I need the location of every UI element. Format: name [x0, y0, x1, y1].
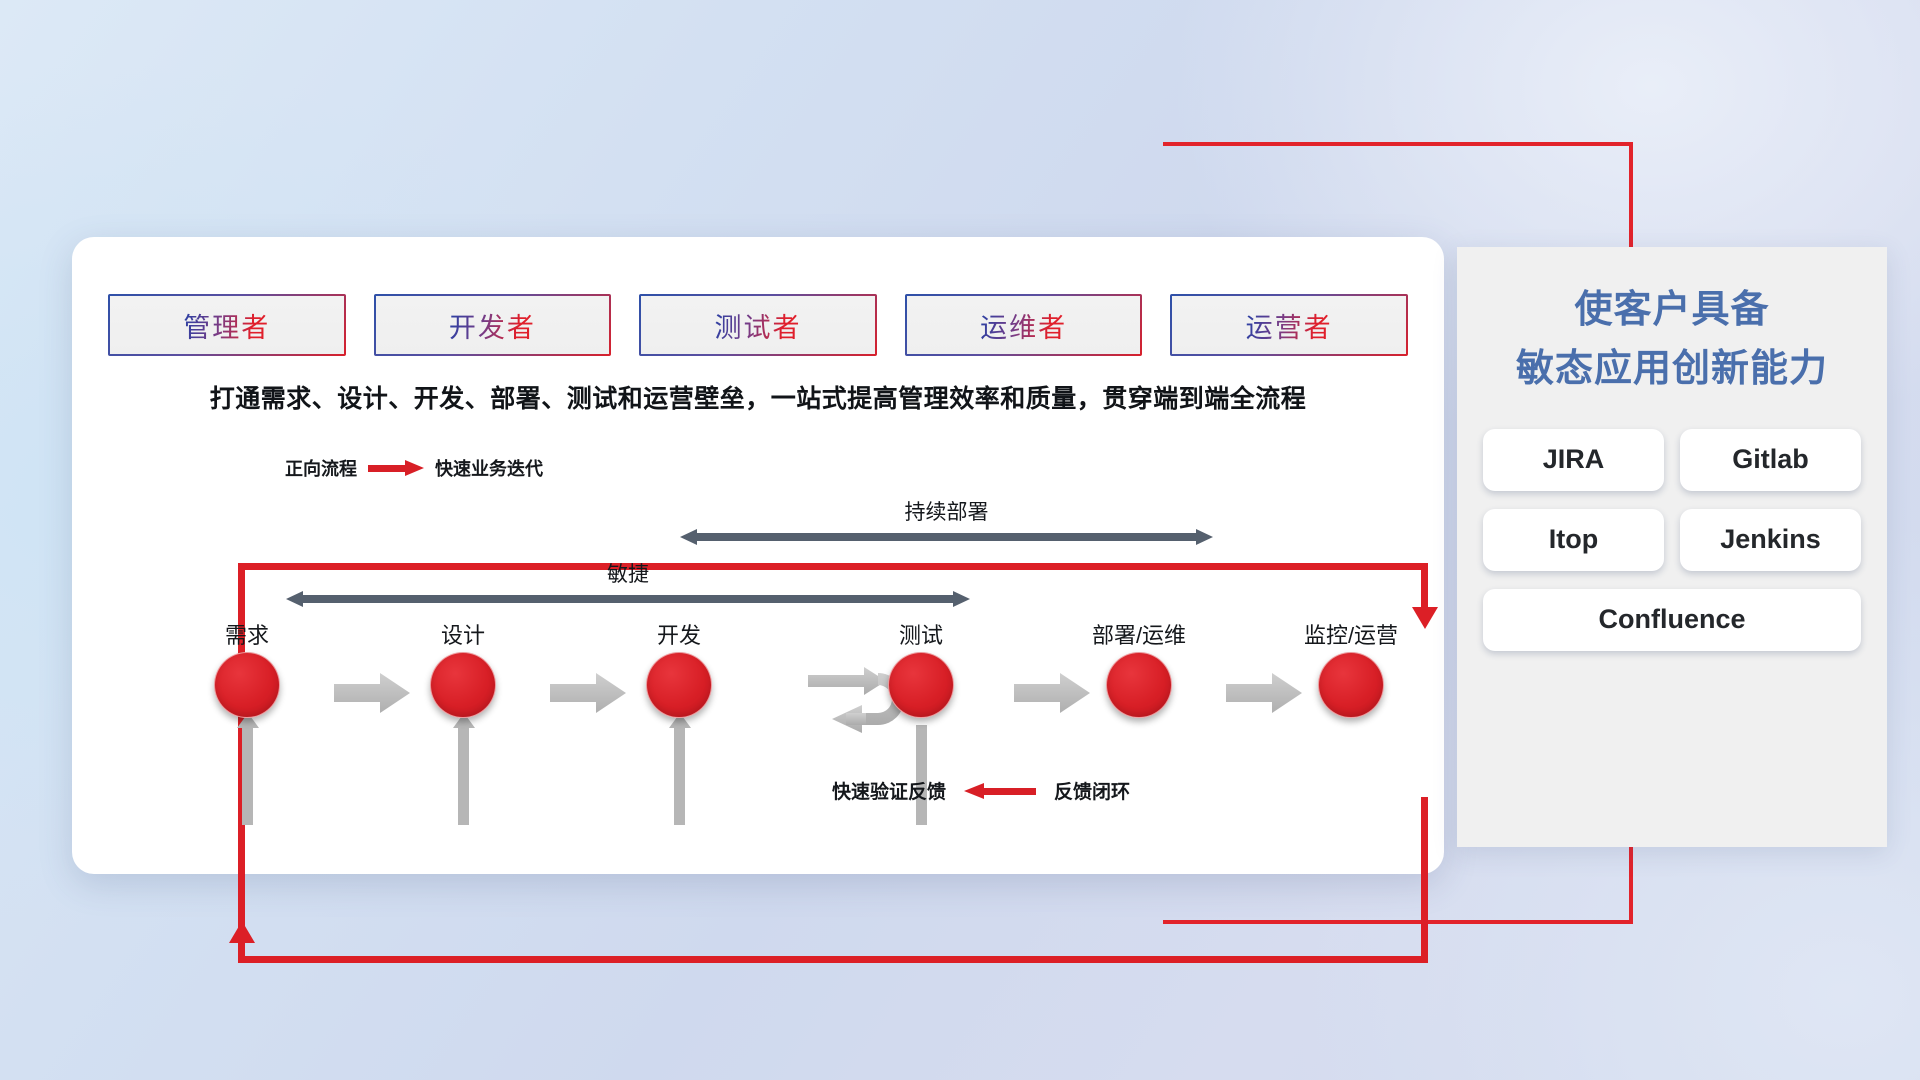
feed-line-develop — [674, 725, 685, 825]
legend-forward-right-label: 快速业务迭代 — [435, 455, 543, 481]
tagline-text: 打通需求、设计、开发、部署、测试和运营壁垒，一站式提高管理效率和质量，贯穿端到端… — [72, 379, 1444, 415]
legend-feedback-right-label: 反馈闭环 — [1054, 777, 1130, 804]
tool-chip-jenkins[interactable]: Jenkins — [1680, 509, 1861, 571]
arrow-left-icon — [964, 783, 1036, 799]
panel-title-line-1: 使客户具备 — [1483, 281, 1861, 340]
pipeline-stage-requirement[interactable]: 需求 — [172, 625, 322, 718]
arrow-bar — [302, 595, 954, 603]
role-label: 运营者 — [1246, 306, 1333, 345]
stage-label: 监控/运营 — [1276, 625, 1426, 647]
feed-line-test — [916, 725, 927, 825]
role-label: 开发者 — [449, 306, 536, 345]
panel-title-line-2: 敏态应用创新能力 — [1483, 340, 1861, 399]
role-chip-developer[interactable]: 开发者 — [374, 294, 612, 356]
arrow-right-icon — [368, 460, 424, 476]
red-loop-bottom-rail — [238, 956, 1428, 963]
tool-chip-itop[interactable]: Itop — [1483, 509, 1664, 571]
stage-dot — [888, 652, 954, 718]
stage-label: 开发 — [604, 625, 754, 647]
legend-forward-flow: 正向流程 快速业务迭代 — [285, 455, 543, 481]
role-label: 测试者 — [714, 306, 801, 345]
stage-label: 部署/运维 — [1064, 625, 1214, 647]
diagram-canvas: 管理者 开发者 测试者 运维者 运营者 打通需求、设计、开发、部署、测试和运营壁… — [0, 0, 1920, 1080]
tool-chip-jira[interactable]: JIRA — [1483, 429, 1664, 491]
legend-feedback-left-label: 快速验证反馈 — [832, 777, 946, 804]
role-chip-manager[interactable]: 管理者 — [108, 294, 346, 356]
pipeline-stage-develop[interactable]: 开发 — [604, 625, 754, 718]
arrow-head-right-icon — [1196, 529, 1213, 545]
role-chip-tester[interactable]: 测试者 — [639, 294, 877, 356]
role-chip-operations[interactable]: 运营者 — [1170, 294, 1408, 356]
pipeline-stages: 需求 设计 — [116, 625, 1406, 755]
arrow-bar — [696, 533, 1197, 541]
span-arrow-agile: 敏捷 — [286, 591, 970, 607]
red-loop-arrowhead-up-icon — [229, 921, 255, 943]
stage-label: 设计 — [388, 625, 538, 647]
feed-line-design — [458, 725, 469, 825]
stage-dot — [646, 652, 712, 718]
legend-feedback-loop: 快速验证反馈 反馈闭环 — [832, 777, 1130, 804]
tool-chip-gitlab[interactable]: Gitlab — [1680, 429, 1861, 491]
legend-forward-left-label: 正向流程 — [285, 455, 357, 481]
role-label: 管理者 — [183, 306, 270, 345]
span-arrow-continuous-deployment: 持续部署 — [680, 529, 1213, 545]
toolchain-panel: 使客户具备 敏态应用创新能力 JIRA Gitlab Itop Jenkins … — [1457, 247, 1887, 847]
tool-chip-confluence[interactable]: Confluence — [1483, 589, 1861, 651]
pipeline-stage-deploy-ops[interactable]: 部署/运维 — [1064, 625, 1214, 718]
main-content-card: 管理者 开发者 测试者 运维者 运营者 打通需求、设计、开发、部署、测试和运营壁… — [72, 237, 1444, 874]
span-label: 敏捷 — [286, 558, 970, 588]
red-loop-right-lower-rail — [1421, 797, 1428, 963]
feed-line-requirement — [242, 725, 253, 825]
stage-dot — [1318, 652, 1384, 718]
role-chip-ops[interactable]: 运维者 — [905, 294, 1143, 356]
arrow-head-left-icon — [680, 529, 697, 545]
roles-row: 管理者 开发者 测试者 运维者 运营者 — [108, 294, 1408, 356]
tool-chip-grid: JIRA Gitlab Itop Jenkins Confluence — [1483, 429, 1861, 651]
panel-title: 使客户具备 敏态应用创新能力 — [1483, 281, 1861, 399]
pipeline-stage-design[interactable]: 设计 — [388, 625, 538, 718]
pipeline-stage-monitor-operate[interactable]: 监控/运营 — [1276, 625, 1426, 718]
arrow-head-left-icon — [286, 591, 303, 607]
stage-label: 测试 — [846, 625, 996, 647]
span-label: 持续部署 — [680, 496, 1213, 526]
arrow-head-right-icon — [953, 591, 970, 607]
role-label: 运维者 — [980, 306, 1067, 345]
stage-dot — [214, 652, 280, 718]
stage-label: 需求 — [172, 625, 322, 647]
pipeline-stage-test[interactable]: 测试 — [846, 625, 996, 718]
stage-dot — [1106, 652, 1172, 718]
stage-dot — [430, 652, 496, 718]
